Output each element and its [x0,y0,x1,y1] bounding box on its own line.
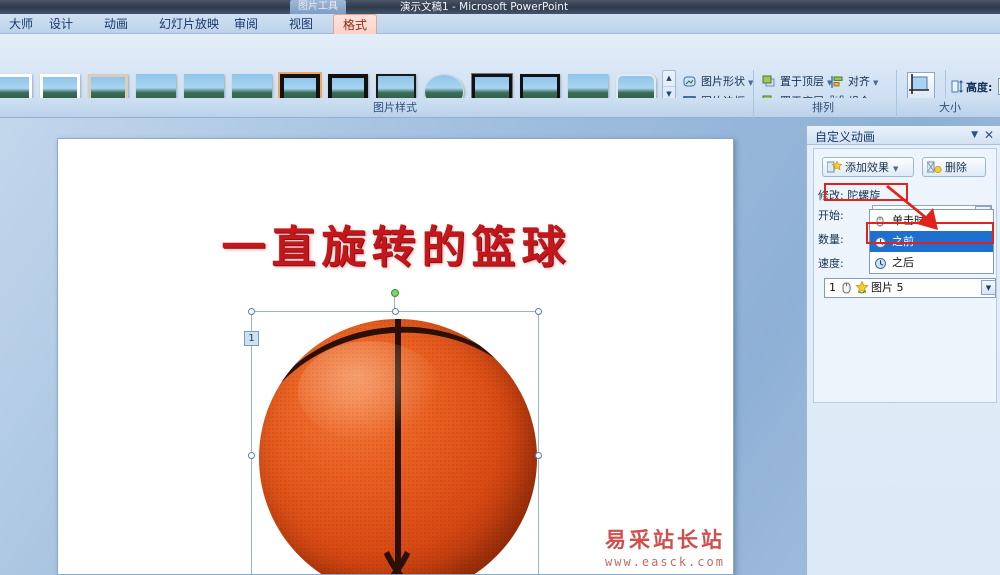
remove-effect-button[interactable]: 删除 [922,157,986,177]
align-icon [830,75,844,89]
tab-format[interactable]: 格式 [333,14,377,35]
gallery-scroll-up-icon[interactable]: ▲ [663,71,675,87]
animation-list[interactable]: 1 图片 5 ▼ [824,278,996,298]
resize-handle-e[interactable] [535,452,542,459]
ribbon-tab-strip: 大师 设计 动画 幻灯片放映 审阅 视图 格式 [0,14,1000,34]
task-pane-title: 自定义动画 [815,128,875,145]
tab-design[interactable]: 设计 [40,15,82,34]
tab-review[interactable]: 审阅 [225,15,267,34]
picture-shape-icon [683,75,697,89]
resize-handle-ne[interactable] [535,308,542,315]
add-effect-label: 添加效果 [845,161,889,174]
align-label: 对齐 [848,75,870,88]
after-previous-icon [874,256,887,269]
tab-master[interactable]: 大师 [0,15,42,34]
height-field-row[interactable]: 高度: 9.92 [950,78,1000,96]
height-icon [950,80,963,93]
picture-shape-button[interactable]: 图片形状▼ [681,72,753,92]
resize-handle-nw[interactable] [248,308,255,315]
animation-order-badge[interactable]: 1 [244,331,259,346]
align-button[interactable]: 对齐▼ [828,72,878,92]
picture-shape-label: 图片形状 [701,75,745,88]
annotation-redbox-with-previous [866,222,994,244]
tab-view[interactable]: 视图 [280,15,322,34]
amount-field-label: 数量: [818,231,844,247]
spin-star-icon [855,281,869,301]
group-divider [896,98,897,118]
crop-icon [907,72,935,100]
close-icon[interactable]: ✕ [984,128,994,142]
tab-slideshow[interactable]: 幻灯片放映 [150,15,228,34]
powerpoint-window: 图片工具 演示文稿1 - Microsoft PowerPoint 大师 设计 … [0,0,1000,575]
height-label: 高度: [966,79,992,95]
animation-list-item[interactable]: 1 图片 5 ▼ [825,279,997,297]
add-effect-icon [827,161,842,181]
chevron-down-icon[interactable]: ▼ [971,130,978,140]
bring-to-front-icon [762,75,776,89]
rotate-handle[interactable] [391,289,399,297]
resize-handle-n[interactable] [392,308,399,315]
ribbon-group-label-bar: 图片样式 排列 大小 [0,98,1000,118]
watermark: 易采站长站 www.easck.com [605,524,725,569]
resize-handle-w[interactable] [248,452,255,459]
title-bar: 图片工具 演示文稿1 - Microsoft PowerPoint [0,0,1000,14]
watermark-cn-text: 易采站长站 [605,524,725,554]
remove-effect-label: 删除 [945,161,967,174]
animation-item-label: 图片 5 [871,279,904,297]
group-label-size: 大小 [900,98,1000,118]
start-field-label: 开始: [818,207,844,223]
add-effect-button[interactable]: 添加效果▼ [822,157,914,177]
document-title: 演示文稿1 - Microsoft PowerPoint [400,0,568,14]
task-pane-header: 自定义动画 ▼ ✕ [807,126,1000,145]
animation-item-dropdown-icon[interactable]: ▼ [981,280,996,295]
contextual-tab-label: 图片工具 [290,0,346,14]
slide-canvas[interactable]: 一直旋转的篮球 [57,138,734,575]
tab-animation[interactable]: 动画 [95,15,137,34]
speed-field-label: 速度: [818,255,844,271]
watermark-url-text: www.easck.com [605,555,725,569]
bring-to-front-label: 置于顶层 [780,75,824,88]
group-divider [753,98,754,118]
mouse-click-icon [841,282,852,300]
start-option-after-previous[interactable]: 之后 [870,252,993,273]
slide-title-text[interactable]: 一直旋转的篮球 [58,211,734,275]
remove-effect-icon [927,161,942,181]
picture-selection-frame[interactable] [251,311,539,575]
group-label-arrange: 排列 [753,98,893,118]
start-option-after-previous-label: 之后 [892,256,914,269]
group-label-picture-styles: 图片样式 [330,98,460,118]
animation-item-number: 1 [829,279,836,297]
bring-to-front-button[interactable]: 置于顶层▼ [760,72,832,92]
